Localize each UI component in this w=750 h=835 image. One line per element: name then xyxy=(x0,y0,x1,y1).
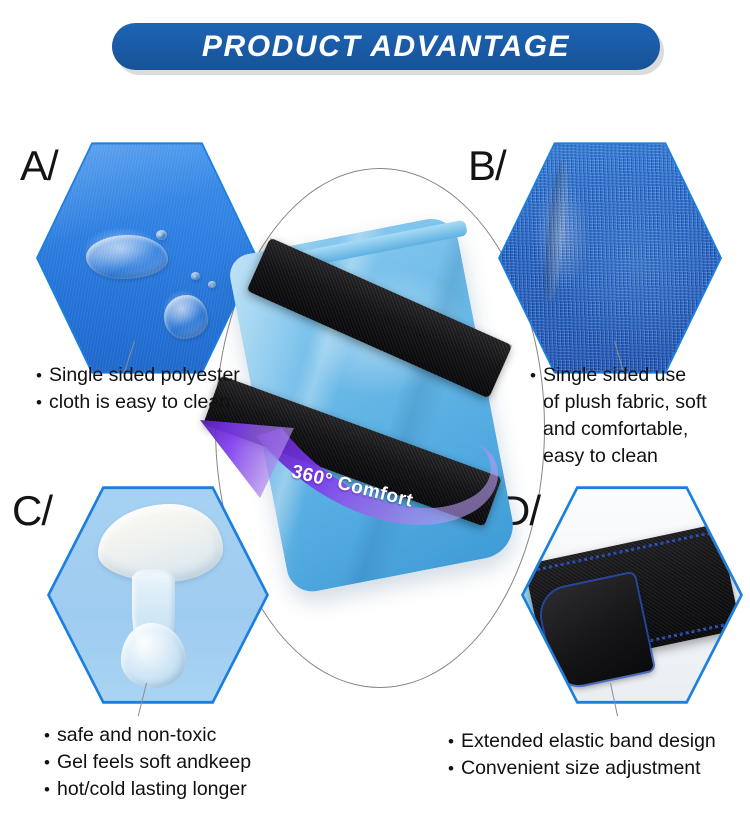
list-item: • cloth is easy to clean xyxy=(36,389,276,416)
feature-bullet-label: Single sided use of plush fabric, soft a… xyxy=(543,362,748,470)
list-item: • Single sided polyester xyxy=(36,362,276,389)
bullet-icon: • xyxy=(44,749,57,776)
bullet-icon: • xyxy=(36,362,49,389)
bullet-icon: • xyxy=(448,728,461,755)
feature-letter-b: B/ xyxy=(468,145,506,187)
water-drop-large xyxy=(86,235,168,279)
list-item: • Convenient size adjustment xyxy=(448,755,748,782)
feature-text-d: • Extended elastic band design • Conveni… xyxy=(448,728,748,782)
feature-bullet-label: Gel feels soft andkeep xyxy=(57,749,334,776)
360-comfort-arrow: 360° Comfort xyxy=(186,398,516,558)
black-elastic-band-photo xyxy=(524,487,740,703)
bullet-icon: • xyxy=(36,389,49,416)
feature-letter-c: C/ xyxy=(12,490,52,532)
list-item: • hot/cold lasting longer xyxy=(44,776,334,803)
feature-bullet-label: hot/cold lasting longer xyxy=(57,776,334,803)
feature-text-b: • Single sided use of plush fabric, soft… xyxy=(530,362,748,470)
feature-bullet-label: Extended elastic band design xyxy=(461,728,748,755)
band-stitch-top xyxy=(525,530,720,574)
list-item: • Single sided use of plush fabric, soft… xyxy=(530,362,748,470)
velcro-patch xyxy=(536,573,654,691)
feature-bullet-label: Single sided polyester xyxy=(49,362,276,389)
plush-fold-crease xyxy=(541,160,572,301)
feature-image-d xyxy=(524,487,740,703)
gel-drip-bulb xyxy=(121,623,186,688)
feature-letter-a: A/ xyxy=(20,145,58,187)
water-drop-small-1 xyxy=(156,230,167,240)
feature-bullet-label: Convenient size adjustment xyxy=(461,755,748,782)
feature-bullet-label: cloth is easy to clean xyxy=(49,389,276,416)
feature-bullet-label: safe and non-toxic xyxy=(57,722,334,749)
feature-text-c: • safe and non-toxic • Gel feels soft an… xyxy=(44,722,334,803)
product-advantage-infographic: PRODUCT ADVANTAGE A/ B/ C/ xyxy=(0,0,750,835)
bullet-icon: • xyxy=(44,722,57,749)
page-title-banner: PRODUCT ADVANTAGE xyxy=(112,23,660,70)
bullet-icon: • xyxy=(530,362,543,389)
list-item: • Extended elastic band design xyxy=(448,728,748,755)
page-title: PRODUCT ADVANTAGE xyxy=(202,30,570,64)
list-item: • safe and non-toxic xyxy=(44,722,334,749)
bullet-icon: • xyxy=(448,755,461,782)
feature-text-a: • Single sided polyester • cloth is easy… xyxy=(36,362,276,416)
list-item: • Gel feels soft andkeep xyxy=(44,749,334,776)
bullet-icon: • xyxy=(44,776,57,803)
